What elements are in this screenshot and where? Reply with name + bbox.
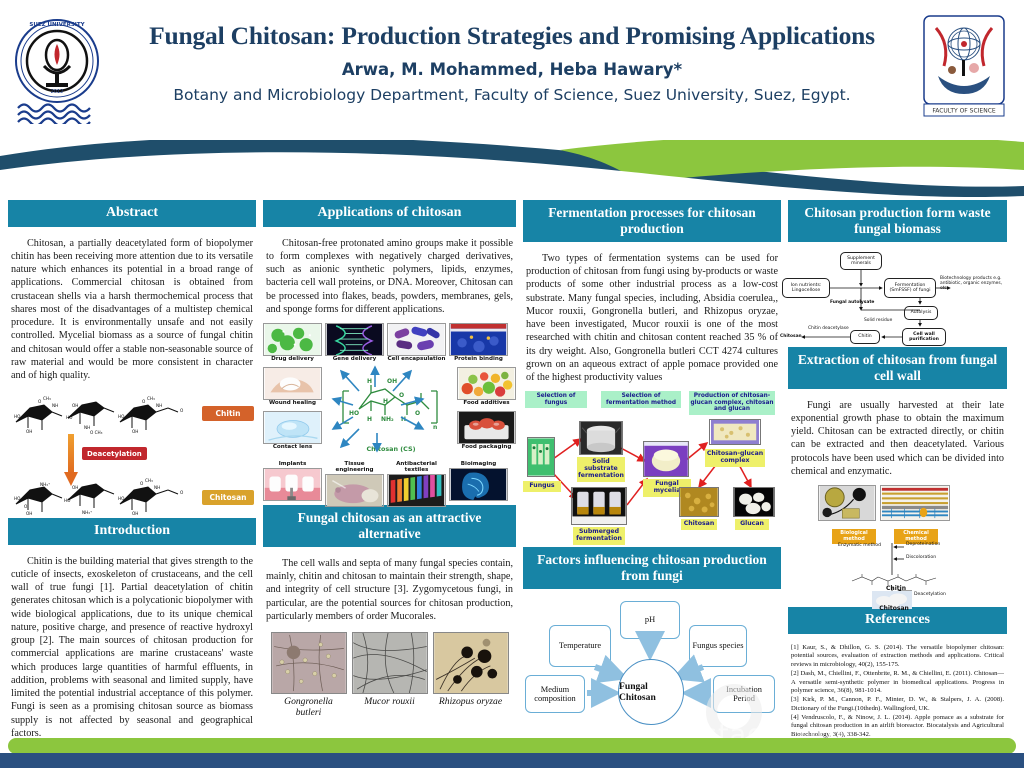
extraction-text: Fungi are usually harvested at their lat… — [788, 395, 1007, 479]
bioimaging-image — [449, 468, 508, 501]
svg-text:OH: OH — [132, 511, 138, 516]
application-item: Protein binding — [449, 323, 508, 363]
antibacterial-textiles-image — [387, 474, 446, 507]
wound-healing-image — [263, 367, 322, 400]
poster-authors: Arwa, M. Mohammed, Heba Hawary* — [110, 60, 914, 79]
flow-stage-label: Production of chitosan-glucan complex, c… — [689, 391, 775, 414]
factors-center-node: Fungal Chitosan — [618, 659, 684, 725]
cell-wall-schematic — [880, 485, 950, 521]
poster-columns: Abstract Chitosan, a partially deacetyla… — [0, 200, 1024, 740]
flow-stage-label: Selection of fungus — [525, 391, 587, 408]
application-item: Drug delivery — [263, 323, 322, 363]
fungus-name: Gongronella butleri — [271, 697, 347, 718]
section-header-introduction: Introduction — [8, 518, 256, 545]
chitosan-product-image — [679, 487, 719, 517]
tissue-engineering-image — [325, 474, 384, 507]
chitosan-tag: Chitosan — [202, 490, 254, 505]
waste-biomass-arrows — [788, 250, 1007, 350]
svg-text:OH: OH — [26, 429, 32, 434]
decorative-wave-band — [0, 140, 1024, 202]
application-item: Bioimaging — [449, 461, 508, 507]
application-label: Contact lens — [263, 445, 322, 451]
section-header-abstract: Abstract — [8, 200, 256, 227]
flow-stage-label: Selection of fermentation method — [601, 391, 681, 408]
svg-text:NH: NH — [156, 403, 162, 408]
application-item: Cell encapsulation — [387, 323, 446, 363]
flow-node: Chitosan-glucan complex — [705, 449, 765, 467]
implants-image — [263, 468, 322, 501]
submerged-fermentation-image — [571, 487, 627, 525]
svg-text:FACULTY OF SCIENCE: FACULTY OF SCIENCE — [932, 108, 996, 115]
poster-root: 2012 SUEZ UNIVERSITY FACULTY OF SCIENCE — [0, 0, 1024, 768]
faculty-of-science-logo: FACULTY OF SCIENCE — [922, 14, 1006, 118]
suez-university-logo: 2012 SUEZ UNIVERSITY — [14, 14, 100, 124]
application-label: Drug delivery — [263, 357, 322, 363]
section-header-extraction: Extraction of chitosan from fungal cell … — [788, 347, 1007, 389]
fungus-name: Mucor rouxii — [352, 697, 428, 708]
svg-text:OH: OH — [72, 485, 78, 490]
svg-text:NH: NH — [52, 403, 58, 408]
mucor-rouxii-micrograph — [352, 632, 428, 694]
column-4: Chitosan production form waste fungal bi… — [788, 200, 1007, 740]
applications-wheel-figure: Drug delivery — [263, 323, 516, 499]
column-2: Applications of chitosan Chitosan-free p… — [263, 200, 516, 740]
column-1: Abstract Chitosan, a partially deacetyla… — [8, 200, 256, 740]
svg-text:O: O — [140, 481, 144, 486]
deacetylation-label: Deacetylation — [82, 447, 147, 460]
svg-text:NH: NH — [154, 485, 160, 490]
fungus-item: Rhizopus oryzae — [433, 632, 509, 718]
waste-biomass-flowchart: Supplement minerals Ion nutrients: Lingo… — [788, 250, 1007, 341]
chitosan-glucan-complex-image — [709, 419, 761, 445]
abstract-text: Chitosan, a partially deacetylated form … — [8, 233, 256, 383]
svg-text:HO: HO — [118, 496, 125, 501]
flow-node: Fungus — [523, 481, 561, 492]
fungal-culture-photo — [818, 485, 876, 521]
fungus-name: Rhizopus oryzae — [433, 697, 509, 708]
application-item: Implants — [263, 461, 322, 507]
fungal-alternative-text: The cell walls and septa of many fungal … — [263, 553, 516, 623]
svg-text:O CH₃: O CH₃ — [90, 430, 103, 435]
title-block: Fungal Chitosan: Production Strategies a… — [110, 22, 914, 104]
cell-encapsulation-image — [387, 323, 446, 356]
application-item: Contact lens — [263, 411, 322, 451]
extraction-step-deacetylation: Deacetylation — [914, 592, 946, 597]
applications-text: Chitosan-free protonated amino groups ma… — [263, 233, 516, 317]
svg-text:OH: OH — [132, 429, 138, 434]
svg-text:SUEZ UNIVERSITY: SUEZ UNIVERSITY — [29, 22, 85, 28]
svg-text:O: O — [24, 504, 28, 509]
svg-text:O: O — [180, 408, 184, 413]
glucan-product-image — [733, 487, 775, 517]
poster-title: Fungal Chitosan: Production Strategies a… — [110, 22, 914, 51]
section-header-fermentation: Fermentation processes for chitosan prod… — [523, 200, 781, 242]
fungal-mycelia-image — [643, 441, 689, 477]
chitin-molecular-chain: OCH₃ NHHO OHOH HONH O CH₃HO OCH₃ NHOH O — [12, 396, 198, 438]
protein-binding-image — [449, 323, 508, 356]
svg-text:CH₃: CH₃ — [43, 396, 51, 401]
fermentation-text: Two types of fermentation systems can be… — [523, 248, 781, 385]
svg-text:HO: HO — [14, 496, 21, 501]
references-list: [1] Kaur, S., & Dhillon, G. S. (2014). T… — [788, 640, 1007, 740]
application-label: Tissue engineering — [325, 462, 384, 474]
drug-delivery-image — [263, 323, 322, 356]
flow-node: Glucan — [735, 519, 769, 530]
reference-item: [3] Kirk, P. M., Cannon, P. F., Minter, … — [791, 696, 1004, 713]
fungus-item: Mucor rouxii — [352, 632, 428, 718]
svg-text:CH₃: CH₃ — [145, 478, 153, 483]
extraction-diagram: Biological method Chemical method Enzyma… — [788, 485, 1007, 601]
application-label: Wound healing — [263, 401, 322, 407]
chitin-chitosan-structure-figure: OCH₃ NHHO OHOH HONH O CH₃HO OCH₃ NHOH O … — [8, 390, 256, 512]
reference-item: [4] Vendruscolo, F., & Ninow, J. L. (201… — [791, 714, 1004, 740]
svg-text:NH₃⁺: NH₃⁺ — [40, 482, 50, 487]
svg-text:OH: OH — [72, 403, 78, 408]
gene-delivery-image — [325, 323, 384, 356]
flow-node: Chitosan — [681, 519, 717, 530]
poster-header: 2012 SUEZ UNIVERSITY FACULTY OF SCIENCE — [0, 0, 1024, 150]
flow-node: Submerged fermentation — [573, 527, 625, 545]
factors-center-label: Fungal Chitosan — [619, 681, 683, 704]
chitin-tag: Chitin — [202, 406, 254, 421]
reference-item: [2] Dash, M., Chiellini, F., Ottenbrite,… — [791, 670, 1004, 696]
contact-lens-image — [263, 411, 322, 444]
fungus-plate-image — [527, 437, 555, 477]
footer-green-bar — [8, 738, 1016, 754]
svg-text:HO: HO — [64, 498, 71, 503]
svg-text:O: O — [180, 490, 184, 495]
footer-navy-bar — [0, 753, 1024, 768]
svg-text:HO: HO — [14, 414, 21, 419]
application-item: Gene delivery — [325, 323, 384, 363]
svg-text:HO: HO — [66, 415, 73, 420]
column-3: Fermentation processes for chitosan prod… — [523, 200, 781, 740]
rhizopus-oryzae-micrograph — [433, 632, 509, 694]
extraction-final-chitosan: Chitosan — [862, 605, 926, 612]
application-item: Tissue engineering — [325, 461, 384, 507]
fungus-item: Gongronella butleri — [271, 632, 347, 718]
application-label: Antibacterial textiles — [387, 462, 446, 474]
svg-text:NH₃⁺: NH₃⁺ — [82, 510, 92, 515]
svg-text:O: O — [38, 399, 42, 404]
poster-affiliation: Botany and Microbiology Department, Facu… — [110, 86, 914, 104]
introduction-text: Chitin is the building material that giv… — [8, 551, 256, 741]
svg-text:2012: 2012 — [51, 89, 64, 95]
applications-arrows — [319, 359, 467, 459]
svg-text:HO: HO — [118, 414, 125, 419]
section-header-applications: Applications of chitosan — [263, 200, 516, 227]
fermentation-flow-figure: Selection of fungus Selection of ferment… — [523, 391, 781, 541]
application-item: Antibacterial textiles — [387, 461, 446, 507]
svg-text:OH: OH — [26, 511, 32, 516]
svg-text:O: O — [142, 399, 146, 404]
gongronella-butleri-micrograph — [271, 632, 347, 694]
fungi-micrographs-row: Gongronella butleri Mucor rouxii — [263, 632, 516, 718]
section-header-waste-biomass: Chitosan production form waste fungal bi… — [788, 200, 1007, 242]
section-header-factors: Factors influencing chitosan production … — [523, 547, 781, 589]
solid-substrate-fermentation-image — [579, 421, 623, 455]
application-item: Wound healing — [263, 367, 322, 407]
chitosan-molecular-chain: NH₃⁺HO OHO OHHO NH₃⁺HO OCH₃ NHOH O — [12, 478, 198, 520]
svg-text:CH₃: CH₃ — [147, 396, 155, 401]
section-header-fungal-alternative: Fungal chitosan as an attractive alterna… — [263, 505, 516, 547]
flow-node: Solid substrate fermentation — [577, 457, 625, 482]
factors-diagram: pH Temperature Fungus species Medium com… — [523, 597, 781, 737]
reference-item: [1] Kaur, S., & Dhillon, G. S. (2014). T… — [791, 644, 1004, 670]
